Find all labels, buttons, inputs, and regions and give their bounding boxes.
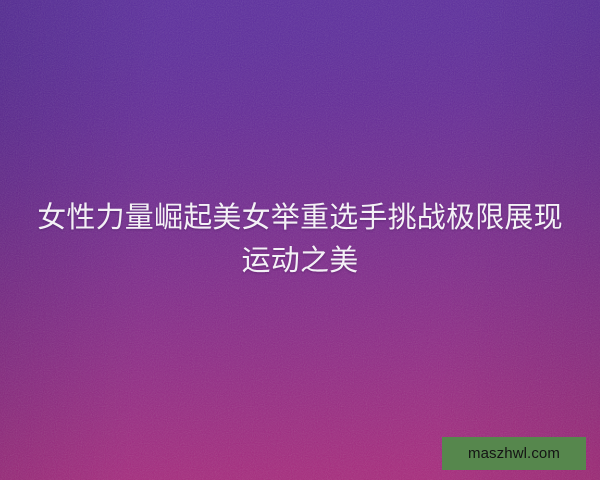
page-title: 女性力量崛起美女举重选手挑战极限展现运动之美: [28, 196, 572, 282]
site-watermark-label: maszhwl.com: [468, 446, 560, 461]
title-card: 女性力量崛起美女举重选手挑战极限展现运动之美 maszhwl.com: [0, 0, 600, 480]
site-watermark-badge: maszhwl.com: [442, 437, 586, 470]
